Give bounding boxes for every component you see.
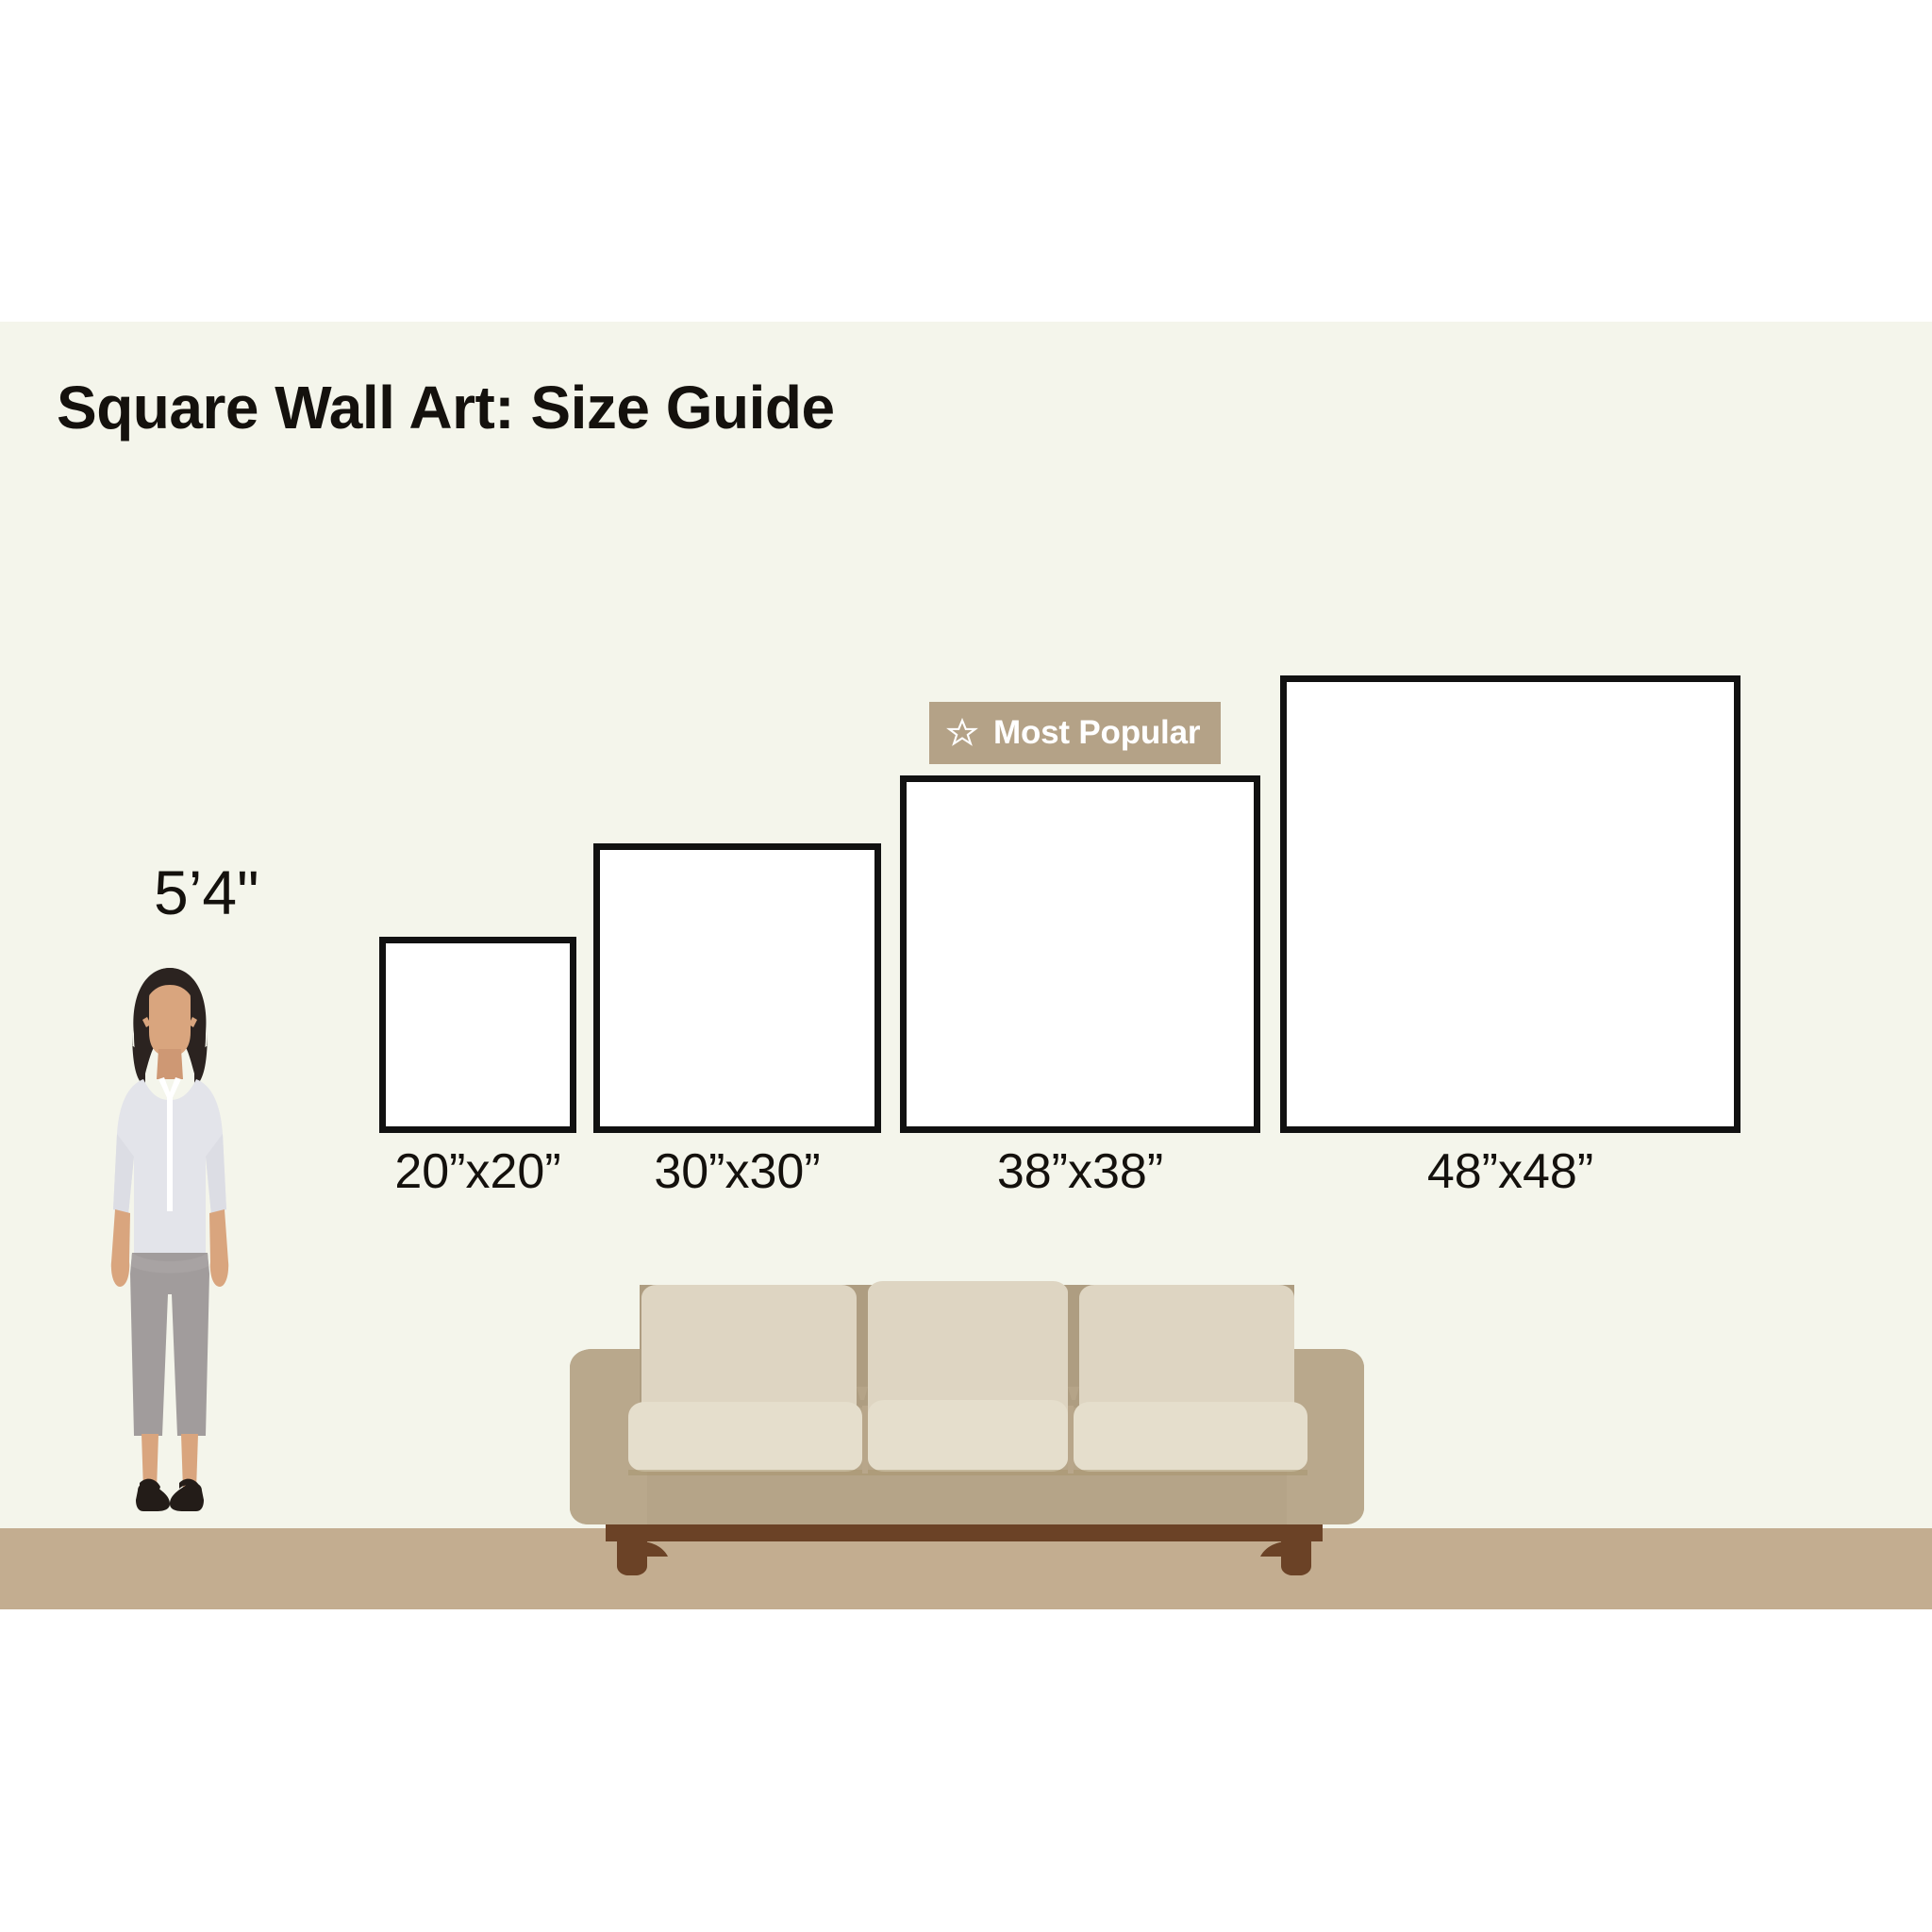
sofa: [557, 1274, 1377, 1575]
frame-label-30x30: 30”x30”: [593, 1143, 881, 1200]
frame-label-38x38: 38”x38”: [900, 1143, 1260, 1200]
star-outline-icon: [946, 717, 978, 749]
person-silhouette: [94, 962, 245, 1538]
frame-preview-38x38[interactable]: [900, 775, 1260, 1133]
most-popular-badge: Most Popular: [929, 702, 1221, 764]
height-reference-label: 5’4": [154, 857, 259, 928]
frame-preview-48x48[interactable]: [1280, 675, 1740, 1133]
page-title: Square Wall Art: Size Guide: [57, 373, 835, 442]
frame-preview-20x20[interactable]: [379, 937, 576, 1133]
frame-label-20x20: 20”x20”: [379, 1143, 576, 1200]
frame-preview-30x30[interactable]: [593, 843, 881, 1133]
most-popular-badge-label: Most Popular: [993, 714, 1200, 752]
size-guide-canvas: Square Wall Art: Size Guide 5’4": [0, 0, 1932, 1932]
frame-label-48x48: 48”x48”: [1280, 1143, 1740, 1200]
